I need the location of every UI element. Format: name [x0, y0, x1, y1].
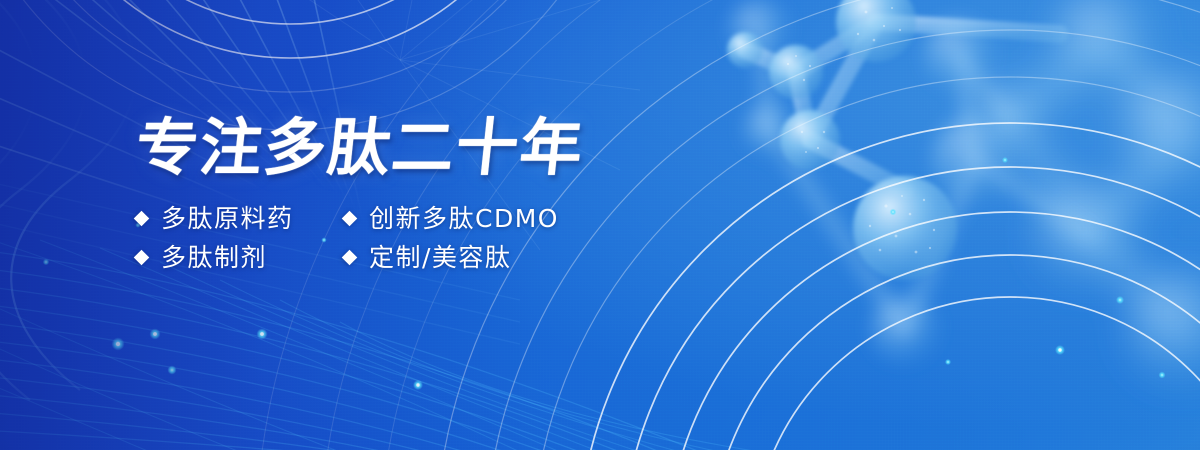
- diamond-bullet-icon: [134, 211, 150, 227]
- feature-item-custom-cosmetic-peptide: 定制/美容肽: [344, 245, 584, 270]
- diamond-bullet-icon: [134, 250, 150, 266]
- feature-label: 定制/美容肽: [369, 245, 511, 270]
- diamond-bullet-icon: [342, 250, 358, 266]
- page-title: 专注多肽二十年: [133, 116, 588, 180]
- feature-list: 多肽原料药 创新多肽CDMO 多肽制剂 定制/美容肽: [136, 206, 584, 270]
- feature-item-peptide-cdmo: 创新多肽CDMO: [344, 206, 584, 231]
- banner-content: 专注多肽二十年 多肽原料药 创新多肽CDMO 多肽制剂 定制/美容肽: [136, 116, 584, 270]
- hero-banner: 专注多肽二十年 多肽原料药 创新多肽CDMO 多肽制剂 定制/美容肽: [0, 0, 1200, 450]
- feature-label: 创新多肽CDMO: [369, 206, 559, 231]
- feature-label: 多肽原料药: [161, 206, 294, 231]
- feature-label: 多肽制剂: [161, 245, 267, 270]
- feature-item-peptide-api: 多肽原料药: [136, 206, 336, 231]
- feature-item-peptide-formulation: 多肽制剂: [136, 245, 336, 270]
- diamond-bullet-icon: [342, 211, 358, 227]
